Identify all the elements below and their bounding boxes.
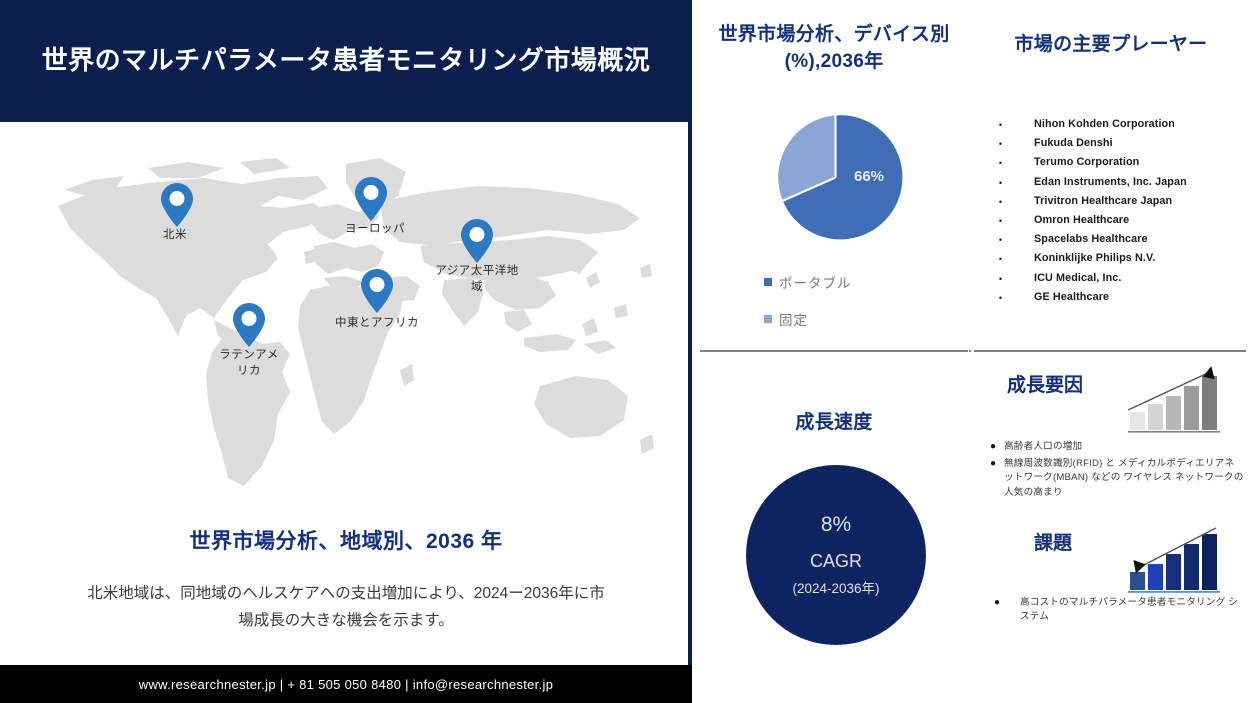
list-item: • Nihon Kohden Corporation <box>972 118 1250 133</box>
legend-label-fixed: 固定 <box>779 309 808 329</box>
key-players-title: 市場の主要プレーヤー <box>972 0 1250 59</box>
player-name: GE Healthcare <box>1034 291 1109 303</box>
location-pin-icon <box>360 268 394 314</box>
player-name: Terumo Corporation <box>1034 156 1139 168</box>
list-item: ● 高齢者人口の増加 <box>982 440 1244 454</box>
map-label-asia-pacific: アジア太平洋地域 <box>432 264 522 295</box>
list-item: • Omron Healthcare <box>972 214 1250 229</box>
infographic-root: 世界のマルチパラメータ患者モニタリング市場概況 <box>0 0 1250 703</box>
footer-bar: www.researchnester.jp | + 81 505 050 848… <box>0 665 692 703</box>
bullet-icon: • <box>972 195 1002 210</box>
cagr-percent: 8% <box>821 513 851 537</box>
list-item: • ICU Medical, Inc. <box>972 272 1250 287</box>
growth-drivers-list: ● 高齢者人口の増加 ● 無線周波数識別(RFID) と メディカルボディエリア… <box>982 440 1244 503</box>
player-name: Omron Healthcare <box>1034 214 1129 226</box>
legend-item-fixed: 固定 <box>764 309 852 329</box>
bullet-icon: • <box>972 291 1002 306</box>
bullet-icon: • <box>972 252 1002 267</box>
page-title: 世界のマルチパラメータ患者モニタリング市場概況 <box>42 42 651 80</box>
challenges-trend-chart-icon <box>1124 524 1224 596</box>
player-name: Koninklijke Philips N.V. <box>1034 252 1155 264</box>
legend-swatch-fixed <box>764 315 772 323</box>
growth-rate-panel: 成長速度 8% CAGR (2024-2036年) <box>696 352 972 703</box>
cagr-metric-label: CAGR <box>810 549 862 573</box>
location-pin-icon <box>160 182 194 228</box>
challenge-text: 高コストのマルチパラメータ患者モニタリング システム <box>1012 596 1244 624</box>
pie-legend: ポータブル 固定 <box>764 272 852 346</box>
bullet-icon: • <box>972 176 1002 191</box>
bullet-icon: • <box>972 137 1002 152</box>
bullet-icon: • <box>972 214 1002 229</box>
driver-text: 高齢者人口の増加 <box>1004 440 1244 454</box>
list-item: • Terumo Corporation <box>972 156 1250 171</box>
map-pin-latin-america[interactable] <box>232 302 266 348</box>
player-name: Fukuda Denshi <box>1034 137 1113 149</box>
growth-trend-chart-icon <box>1124 364 1224 436</box>
map-pin-asia-pacific[interactable] <box>460 218 494 264</box>
map-label-latin-america: ラテンアメリカ <box>217 348 281 379</box>
location-pin-icon <box>460 218 494 264</box>
pie-value-label: 66% <box>854 168 884 185</box>
map-label-north-america: 北米 <box>130 228 220 244</box>
footer-contact-text: www.researchnester.jp | + 81 505 050 848… <box>139 677 553 692</box>
bullet-icon: ● <box>982 596 1012 624</box>
bullet-icon: ● <box>982 440 1004 454</box>
location-pin-icon <box>354 176 388 222</box>
map-label-middle-east-africa: 中東とアフリカ <box>334 316 420 332</box>
list-item: • Trivitron Healthcare Japan <box>972 195 1250 210</box>
pie-chart-title: 世界市場分析、デバイス別(%),2036年 <box>696 0 972 76</box>
legend-swatch-portable <box>764 278 772 286</box>
bullet-icon: ● <box>982 457 1004 500</box>
pie-chart: 66% <box>768 110 903 245</box>
player-name: Trivitron Healthcare Japan <box>1034 195 1172 207</box>
growth-rate-title: 成長速度 <box>696 352 972 437</box>
title-bar: 世界のマルチパラメータ患者モニタリング市場概況 <box>0 0 692 122</box>
location-pin-icon <box>232 302 266 348</box>
cagr-circle: 8% CAGR (2024-2036年) <box>746 465 926 645</box>
bullet-icon: • <box>972 156 1002 171</box>
map-pin-europe[interactable] <box>354 176 388 222</box>
region-analysis-heading: 世界市場分析、地域別、2036 年 <box>0 525 692 555</box>
legend-item-portable: ポータブル <box>764 272 852 292</box>
list-item: • Fukuda Denshi <box>972 137 1250 152</box>
list-item: • Spacelabs Healthcare <box>972 233 1250 248</box>
regional-map-panel: 世界のマルチパラメータ患者モニタリング市場概況 <box>0 0 692 703</box>
challenges-list: ● 高コストのマルチパラメータ患者モニタリング システム <box>982 596 1244 627</box>
region-analysis-description: 北米地域は、同地域のヘルスケアへの支出増加により、2024ー2036年に市場成長… <box>86 580 606 634</box>
world-map: 北米 ヨーロッパ アジア太平洋地域 <box>0 130 692 510</box>
map-pin-north-america[interactable] <box>160 182 194 228</box>
device-share-panel: 世界市場分析、デバイス別(%),2036年 66% ポータブル 固定 <box>696 0 972 350</box>
player-name: Spacelabs Healthcare <box>1034 233 1148 245</box>
player-name: Edan Instruments, Inc. Japan <box>1034 176 1187 188</box>
list-item: ● 高コストのマルチパラメータ患者モニタリング システム <box>982 596 1244 624</box>
player-name: ICU Medical, Inc. <box>1034 272 1122 284</box>
cagr-period: (2024-2036年) <box>792 577 879 597</box>
drivers-and-challenges-panel: 成長要因 ● 高齢者人口の増加 ● 無線周波数識別(RFID) と メディカルボ… <box>972 352 1250 703</box>
growth-drivers-title: 成長要因 <box>990 372 1100 400</box>
bullet-icon: • <box>972 118 1002 133</box>
list-item: • GE Healthcare <box>972 291 1250 306</box>
list-item: ● 無線周波数識別(RFID) と メディカルボディエリアネットワーク(MBAN… <box>982 457 1244 500</box>
bullet-icon: • <box>972 233 1002 248</box>
driver-text: 無線周波数識別(RFID) と メディカルボディエリアネットワーク(MBAN) … <box>1004 457 1244 500</box>
map-label-europe: ヨーロッパ <box>325 222 425 238</box>
legend-label-portable: ポータブル <box>779 272 852 292</box>
key-players-list: • Nihon Kohden Corporation • Fukuda Dens… <box>972 118 1250 310</box>
map-pin-middle-east-africa[interactable] <box>360 268 394 314</box>
list-item: • Koninklijke Philips N.V. <box>972 252 1250 267</box>
bullet-icon: • <box>972 272 1002 287</box>
list-item: • Edan Instruments, Inc. Japan <box>972 176 1250 191</box>
key-players-panel: 市場の主要プレーヤー • Nihon Kohden Corporation • … <box>972 0 1250 350</box>
player-name: Nihon Kohden Corporation <box>1034 118 1175 130</box>
challenges-title: 課題 <box>1008 530 1098 558</box>
